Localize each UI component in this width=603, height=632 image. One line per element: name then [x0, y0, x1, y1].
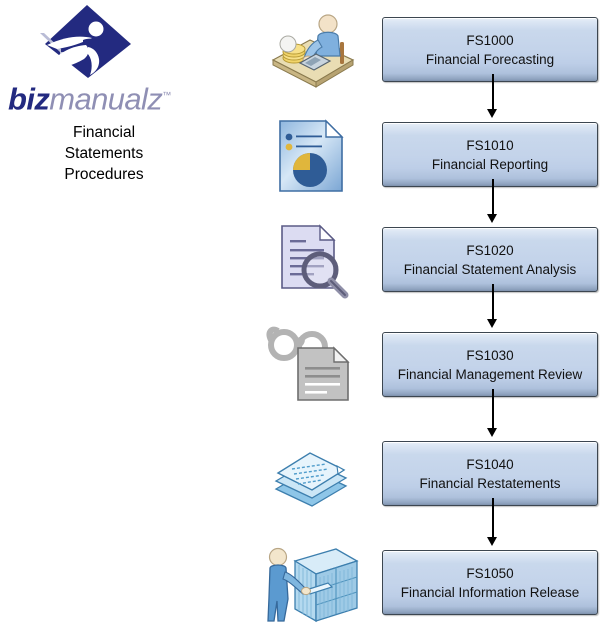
process-flowchart: FS1000 Financial Forecasting: [250, 0, 603, 632]
flow-step-fs1000: FS1000 Financial Forecasting: [250, 8, 603, 93]
step-code: FS1030: [466, 346, 513, 365]
connector-fs1000-to-fs1010: [487, 74, 498, 118]
brand-panel: bizmanualz™ Financial Statements Procedu…: [0, 0, 250, 632]
step-name: Financial Information Release: [401, 583, 580, 602]
step-box-fs1030[interactable]: FS1030 Financial Management Review: [382, 332, 598, 397]
page-title-line-1: Financial: [0, 122, 208, 143]
eyeglasses-with-document-icon: [258, 323, 363, 408]
step-code: FS1050: [466, 564, 513, 583]
wordmark-trademark: ™: [162, 90, 170, 100]
step-name: Financial Forecasting: [426, 50, 554, 69]
step-name: Financial Restatements: [419, 474, 560, 493]
connector-fs1020-to-fs1030: [487, 284, 498, 328]
connector-fs1040-to-fs1050: [487, 498, 498, 546]
document-with-pie-chart-icon: [258, 113, 363, 198]
person-at-desk-with-coins-and-calculator-icon: [258, 8, 363, 93]
connector-fs1030-to-fs1040: [487, 389, 498, 437]
bizmanualz-wordmark: bizmanualz™: [8, 78, 188, 112]
connector-fs1010-to-fs1020: [487, 179, 498, 223]
flow-step-fs1010: FS1010 Financial Reporting: [250, 113, 603, 198]
flow-step-fs1030: FS1030 Financial Management Review: [250, 323, 603, 408]
step-code: FS1010: [466, 136, 513, 155]
flow-step-fs1040: FS1040 Financial Restatements: [250, 432, 603, 517]
wordmark-biz: biz: [8, 81, 49, 116]
step-box-fs1050[interactable]: FS1050 Financial Information Release: [382, 550, 598, 615]
stack-of-documents-icon: [258, 432, 363, 517]
bizmanualz-logo: bizmanualz™: [8, 4, 188, 109]
step-box-fs1000[interactable]: FS1000 Financial Forecasting: [382, 17, 598, 82]
page-title-line-3: Procedures: [0, 164, 208, 185]
step-name: Financial Reporting: [432, 155, 548, 174]
person-at-filing-cabinet-icon: [258, 541, 363, 626]
step-box-fs1010[interactable]: FS1010 Financial Reporting: [382, 122, 598, 187]
step-box-fs1040[interactable]: FS1040 Financial Restatements: [382, 441, 598, 506]
step-code: FS1040: [466, 455, 513, 474]
flow-step-fs1050: FS1050 Financial Information Release: [250, 541, 603, 626]
page-title-line-2: Statements: [0, 143, 208, 164]
step-name: Financial Management Review: [398, 365, 583, 384]
step-code: FS1020: [466, 241, 513, 260]
page-title: Financial Statements Procedures: [0, 122, 208, 185]
step-box-fs1020[interactable]: FS1020 Financial Statement Analysis: [382, 227, 598, 292]
flow-step-fs1020: FS1020 Financial Statement Analysis: [250, 218, 603, 303]
bizmanualz-logo-mark: [36, 4, 132, 82]
step-name: Financial Statement Analysis: [404, 260, 577, 279]
wordmark-manualz: manualz: [49, 81, 162, 116]
step-code: FS1000: [466, 31, 513, 50]
document-with-magnifying-glass-icon: [258, 218, 363, 303]
